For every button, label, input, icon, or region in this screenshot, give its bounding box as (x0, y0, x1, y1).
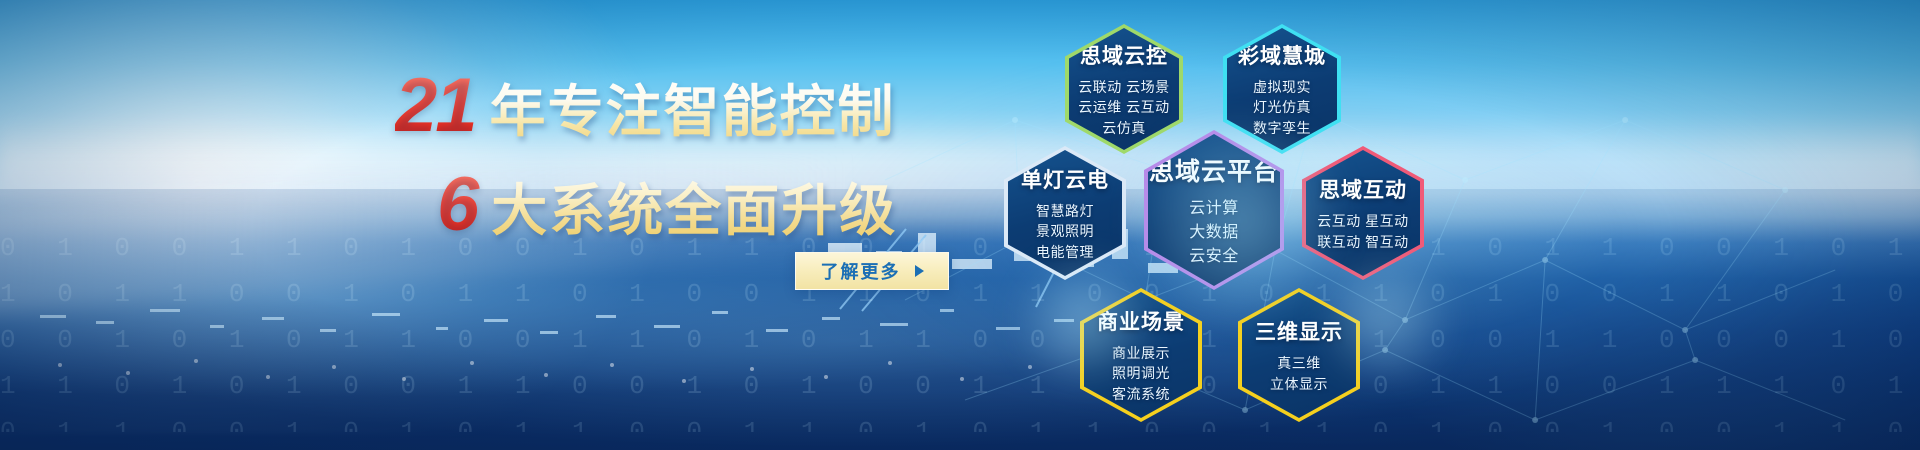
hex-subtitle: 立体显示 (1270, 374, 1328, 394)
headline-number-systems: 6 (437, 161, 481, 248)
hex-subtitle: 电能管理 (1036, 242, 1094, 262)
headline-line-1: 21 年专注智能控制 (395, 62, 955, 149)
hex-title: 思域互动 (1319, 174, 1407, 204)
hex-title: 思域云控 (1080, 40, 1168, 70)
hex-subtitles: 商业展示 照明调光 客流系统 (1112, 343, 1170, 404)
hex-inner: 三维显示 真三维 立体显示 (1242, 292, 1356, 418)
hex-subtitle: 云运维 云互动 (1078, 97, 1169, 117)
hex-subtitle: 真三维 (1270, 353, 1328, 373)
vignette-overlay (0, 0, 1920, 450)
hex-subtitle: 数字孪生 (1253, 118, 1311, 138)
hex-subtitle: 照明调光 (1112, 363, 1170, 383)
hex-siyu-yunkong[interactable]: 思域云控 云联动 云场景 云运维 云互动 云仿真 (1065, 24, 1183, 154)
hex-siyu-yunpingtai[interactable]: 思域云平台 云计算 大数据 云安全 (1144, 130, 1284, 290)
hex-siyu-hudong[interactable]: 思域互动 云互动 星互动 联互动 智互动 (1302, 146, 1424, 280)
promo-banner: 0 1 0 0 1 1 0 1 0 0 1 0 1 1 0 0 1 0 0 1 … (0, 0, 1920, 450)
headline-text-line-1: 年专注智能控制 (490, 67, 896, 148)
hex-subtitles: 云计算 大数据 云安全 (1189, 197, 1239, 269)
learn-more-button[interactable]: 了解更多 (795, 252, 949, 290)
hex-subtitles: 智慧路灯 景观照明 电能管理 (1036, 201, 1094, 262)
hex-inner: 单灯云电 智慧路灯 景观照明 电能管理 (1008, 150, 1122, 276)
hex-inner: 商业场景 商业展示 照明调光 客流系统 (1084, 292, 1198, 418)
learn-more-label: 了解更多 (821, 258, 901, 284)
hex-title: 商业场景 (1097, 306, 1185, 336)
headline-line-2: 6 大系统全面升级 (395, 161, 955, 248)
hex-title: 三维显示 (1255, 316, 1343, 346)
hex-caiyu-huicheng[interactable]: 彩域慧城 虚拟现实 灯光仿真 数字孪生 (1223, 24, 1341, 154)
hex-inner: 思域互动 云互动 星互动 联互动 智互动 (1306, 150, 1420, 276)
headline-block: 21 年专注智能控制 6 大系统全面升级 (395, 62, 955, 248)
hex-subtitle: 云互动 星互动 (1317, 211, 1408, 231)
hex-shangye-changjing[interactable]: 商业场景 商业展示 照明调光 客流系统 (1080, 288, 1202, 422)
hex-subtitle: 商业展示 (1112, 343, 1170, 363)
hex-subtitle: 云联动 云场景 (1078, 77, 1169, 97)
hex-subtitle: 智慧路灯 (1036, 201, 1094, 221)
hex-title: 单灯云电 (1021, 164, 1109, 194)
hex-inner: 彩域慧城 虚拟现实 灯光仿真 数字孪生 (1227, 28, 1337, 150)
hex-title: 彩域慧城 (1238, 40, 1326, 70)
hex-subtitle: 云计算 (1189, 197, 1239, 221)
hex-subtitles: 云联动 云场景 云运维 云互动 云仿真 (1078, 77, 1169, 138)
hex-inner: 思域云平台 云计算 大数据 云安全 (1148, 134, 1280, 286)
headline-text-line-2: 大系统全面升级 (491, 166, 897, 247)
headline-number-years: 21 (395, 62, 480, 149)
hex-subtitle: 虚拟现实 (1253, 77, 1311, 97)
hex-subtitles: 虚拟现实 灯光仿真 数字孪生 (1253, 77, 1311, 138)
hex-subtitle: 联互动 智互动 (1317, 232, 1408, 252)
hex-title: 思域云平台 (1149, 152, 1279, 188)
hex-subtitles: 真三维 立体显示 (1270, 353, 1328, 394)
hex-inner: 思域云控 云联动 云场景 云运维 云互动 云仿真 (1069, 28, 1179, 150)
hex-subtitle: 云安全 (1189, 245, 1239, 269)
hex-subtitle: 云仿真 (1078, 118, 1169, 138)
hex-sanwei-xianshi[interactable]: 三维显示 真三维 立体显示 (1238, 288, 1360, 422)
hex-subtitle: 灯光仿真 (1253, 97, 1311, 117)
hex-subtitle: 大数据 (1189, 221, 1239, 245)
hex-subtitle: 客流系统 (1112, 384, 1170, 404)
hex-dandeng-yundian[interactable]: 单灯云电 智慧路灯 景观照明 电能管理 (1004, 146, 1126, 280)
hex-subtitle: 景观照明 (1036, 221, 1094, 241)
hexagon-cluster: 思域云控 云联动 云场景 云运维 云互动 云仿真 彩域慧城 虚拟现实 灯光仿真 … (980, 0, 1500, 450)
hex-subtitles: 云互动 星互动 联互动 智互动 (1317, 211, 1408, 252)
play-triangle-icon (915, 265, 924, 277)
